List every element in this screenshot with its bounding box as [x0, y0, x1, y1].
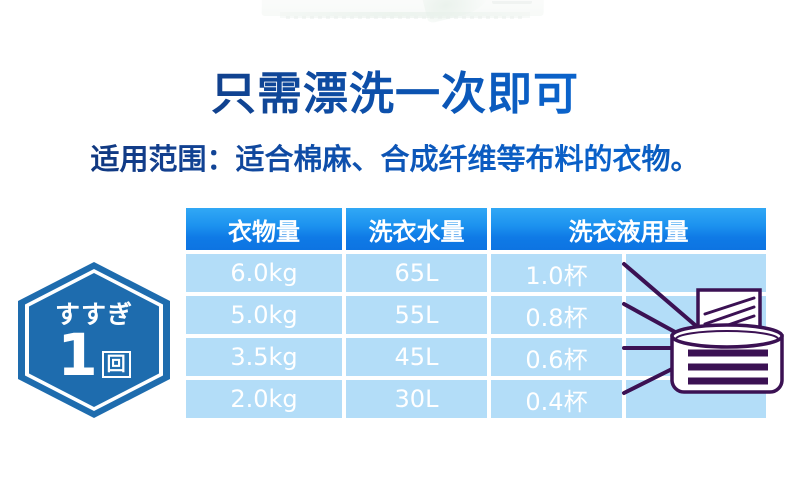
- rinse-once-badge: すすぎ 1 回: [18, 262, 170, 418]
- badge-unit: 回: [102, 351, 131, 378]
- cell-load: 3.5kg: [186, 338, 342, 376]
- cell-dose: 0.6杯: [491, 338, 622, 376]
- page-root: 只需漂洗一次即可 适用范围：适合棉麻、合成纤维等布料的衣物。 すすぎ 1 回 衣…: [0, 0, 790, 498]
- cell-dose: 1.0杯: [491, 254, 622, 292]
- badge-count-row: 1 回: [57, 326, 130, 384]
- column-header-dose: 洗衣液用量: [491, 208, 766, 250]
- cell-dose: 0.4杯: [491, 380, 622, 418]
- package-badge-icon: [492, 0, 532, 4]
- cell-load: 5.0kg: [186, 296, 342, 334]
- badge-content: すすぎ 1 回: [18, 262, 170, 418]
- cell-load: 2.0kg: [186, 380, 342, 418]
- cell-water: 30L: [346, 380, 487, 418]
- column-header-water: 洗衣水量: [346, 208, 487, 250]
- cell-illustration-spacer: [626, 296, 766, 334]
- dosage-table: 衣物量 洗衣水量 洗衣液用量 6.0kg 65L 1.0杯 5.0kg 55L …: [186, 208, 766, 422]
- badge-number: 1: [57, 326, 97, 384]
- page-title: 只需漂洗一次即可: [0, 68, 790, 120]
- cell-water: 55L: [346, 296, 487, 334]
- cell-water: 65L: [346, 254, 487, 292]
- table-body: 6.0kg 65L 1.0杯 5.0kg 55L 0.8杯 3.5kg 45L …: [186, 254, 766, 418]
- cell-illustration-spacer: [626, 380, 766, 418]
- table-row: 5.0kg 55L 0.8杯: [186, 296, 766, 334]
- table-row: 3.5kg 45L 0.6杯: [186, 338, 766, 376]
- column-header-load: 衣物量: [186, 208, 342, 250]
- page-subtitle: 适用范围：适合棉麻、合成纤维等布料的衣物。: [0, 140, 790, 178]
- table-header-row: 衣物量 洗衣水量 洗衣液用量: [186, 208, 766, 250]
- cell-illustration-spacer: [626, 254, 766, 292]
- package-dotted-line: [286, 16, 526, 19]
- cell-load: 6.0kg: [186, 254, 342, 292]
- cell-water: 45L: [346, 338, 487, 376]
- product-package-image: [262, 0, 544, 22]
- cell-illustration-spacer: [626, 338, 766, 376]
- cell-dose: 0.8杯: [491, 296, 622, 334]
- table-row: 6.0kg 65L 1.0杯: [186, 254, 766, 292]
- table-row: 2.0kg 30L 0.4杯: [186, 380, 766, 418]
